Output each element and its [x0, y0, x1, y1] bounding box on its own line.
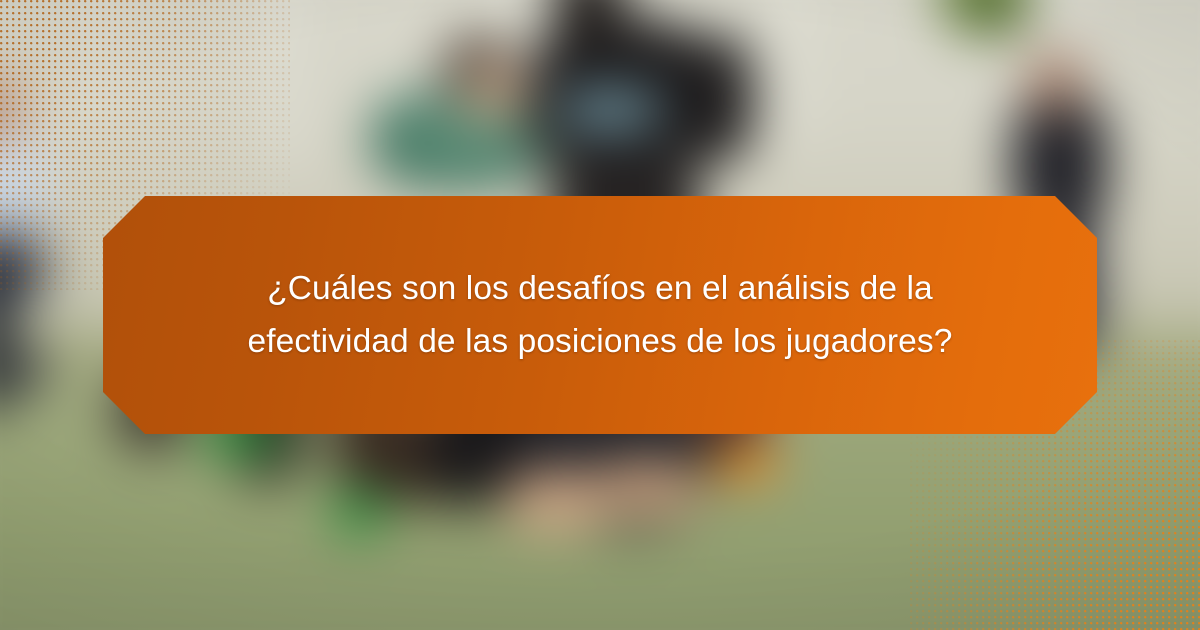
page-title: ¿Cuáles son los desafíos en el análisis …: [150, 262, 1050, 368]
share-card: ¿Cuáles son los desafíos en el análisis …: [0, 0, 1200, 630]
headline-banner: ¿Cuáles son los desafíos en el análisis …: [103, 196, 1097, 434]
